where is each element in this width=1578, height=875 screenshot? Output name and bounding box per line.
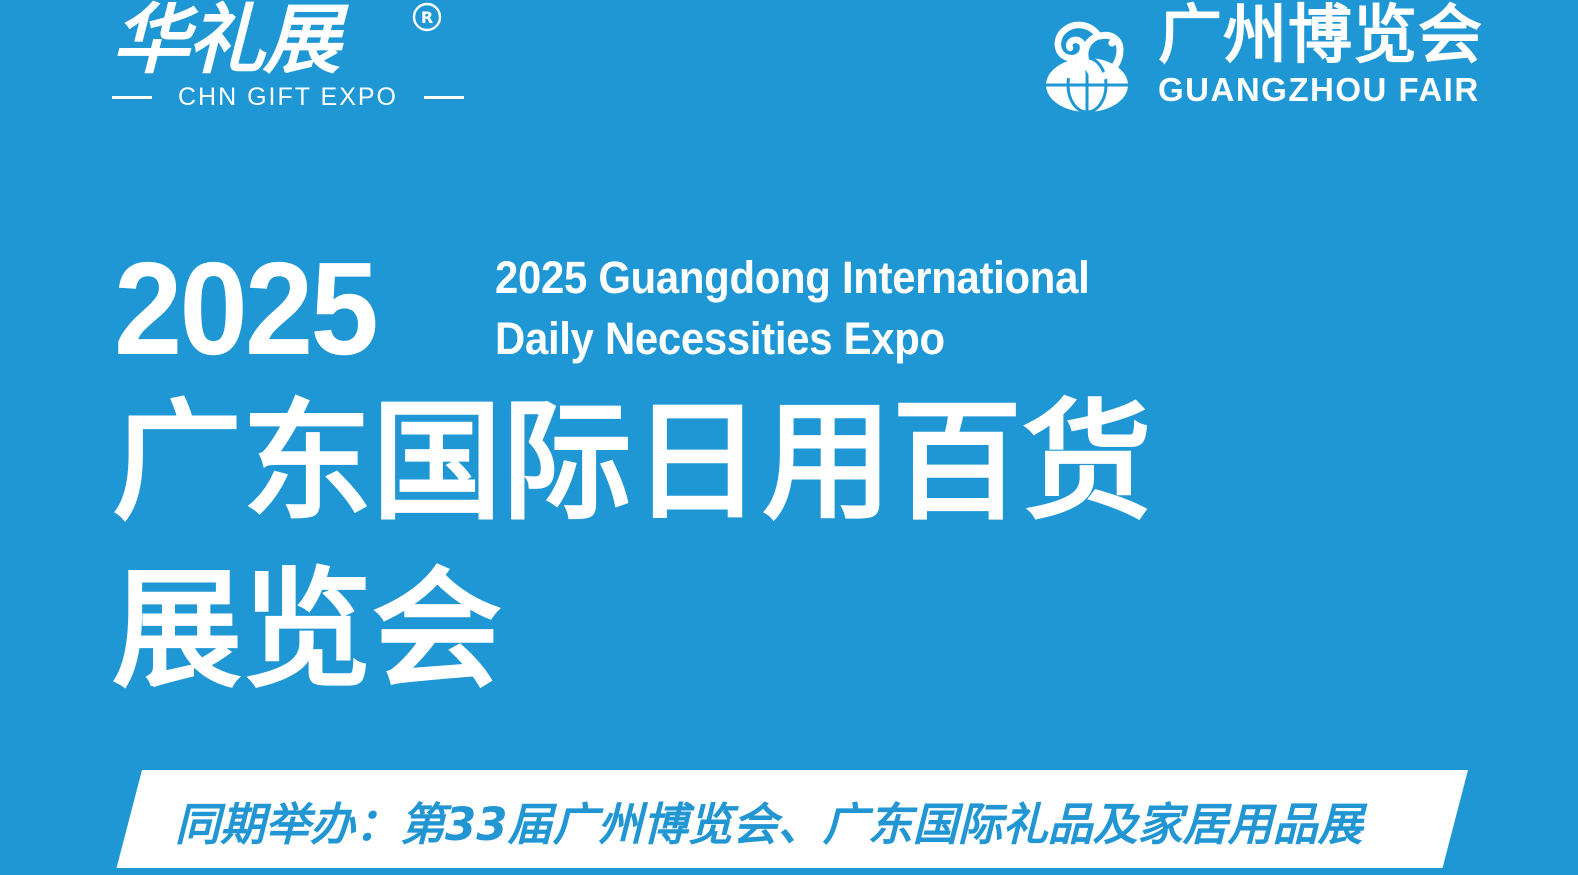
english-subtitle: 2025 Guangdong International Daily Neces… — [495, 247, 1202, 369]
english-subtitle-line1: 2025 Guangdong International — [495, 247, 1202, 308]
concurrent-events-text: 同期举办：第33届广州博览会、广东国际礼品及家居用品展 — [0, 770, 1578, 870]
logo-bar: 华礼展 R CHN GIFT EXPO — [0, 0, 1578, 125]
guangzhou-fair-english-name: GUANGZHOU FAIR — [1158, 72, 1480, 108]
svg-text:R: R — [421, 8, 433, 27]
concurrent-events-ribbon: 同期举办：第33届广州博览会、广东国际礼品及家居用品展 — [0, 770, 1578, 870]
guangzhou-fair-chinese-name: 广州博览会 — [1158, 2, 1483, 70]
registered-trademark-icon: R — [412, 2, 442, 32]
bottom-accent-strip — [0, 868, 1578, 875]
chn-gift-expo-english-row: CHN GIFT EXPO — [112, 82, 464, 112]
chinese-title: 广东国际日用百货 展览会 — [112, 378, 1312, 714]
expo-poster: 华礼展 R CHN GIFT EXPO — [0, 0, 1578, 875]
chn-gift-expo-logo: 华礼展 R CHN GIFT EXPO — [112, 0, 472, 118]
guangzhou-fair-logo: 广州博览会 GUANGZHOU FAIR — [1028, 0, 1478, 118]
rule-right — [424, 96, 464, 99]
ram-on-globe-icon — [1028, 2, 1146, 114]
chinese-title-line2: 展览会 — [112, 546, 1312, 714]
year-display: 2025 — [114, 243, 376, 375]
chinese-title-line1: 广东国际日用百货 — [112, 378, 1312, 546]
rule-left — [112, 96, 152, 99]
chn-gift-expo-chinese-name: 华礼展 — [112, 0, 338, 86]
chn-gift-expo-english-name: CHN GIFT EXPO — [165, 84, 411, 110]
english-subtitle-line2: Daily Necessities Expo — [495, 308, 1202, 369]
